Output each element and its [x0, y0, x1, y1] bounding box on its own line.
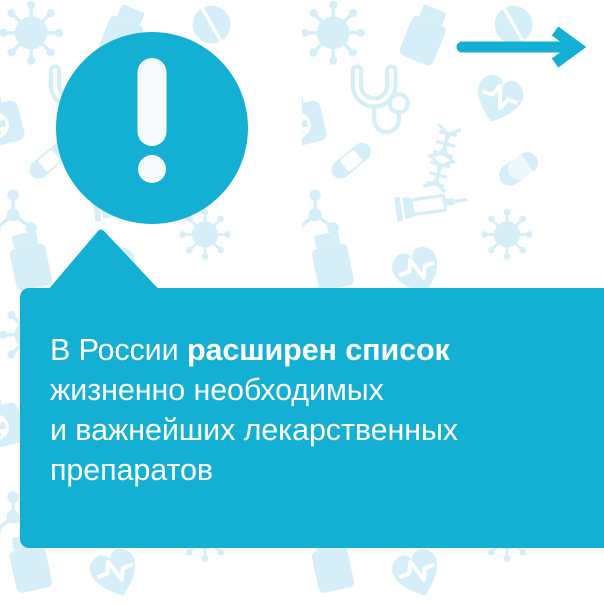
exclamation-dot-icon	[138, 155, 166, 183]
exclamation-mark-icon	[138, 58, 167, 146]
headline-segment-4-1: препаратов	[50, 453, 213, 487]
headline-line-3: и важнейших лекарственных	[50, 410, 580, 450]
headline-text: В России расширен списокжизненно необход…	[50, 330, 580, 490]
headline-segment-1-2: расширен список	[187, 333, 450, 367]
headline-segment-1-1: В России	[50, 333, 187, 367]
headline-segment-3-1: и важнейших лекарственных	[50, 413, 458, 447]
infographic-poster: В России расширен списокжизненно необход…	[0, 0, 604, 604]
headline-line-2: жизненно необходимых	[50, 370, 580, 410]
headline-line-1: В России расширен список	[50, 330, 580, 370]
alert-circle-badge	[56, 32, 248, 224]
headline-line-4: препаратов	[50, 450, 580, 490]
headline-segment-2-1: жизненно необходимых	[50, 373, 384, 407]
arrow-right-icon	[455, 26, 587, 68]
speech-bubble: В России расширен списокжизненно необход…	[20, 288, 604, 548]
